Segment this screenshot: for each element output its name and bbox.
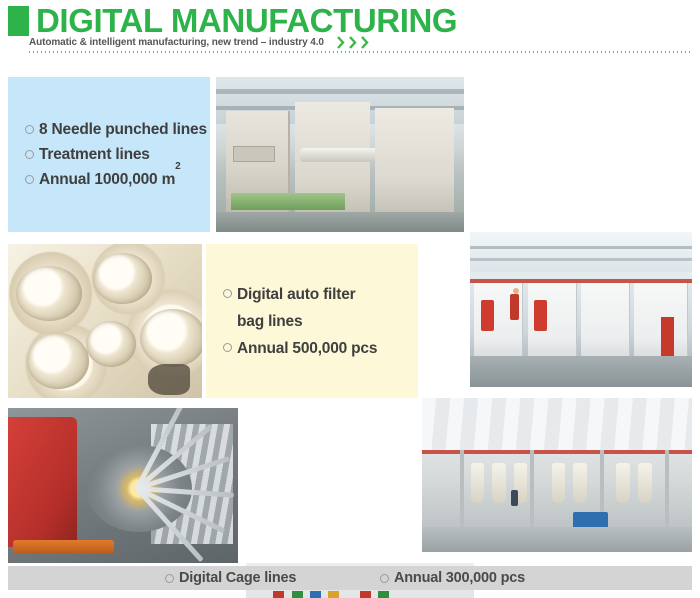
list-item: Treatment lines	[25, 142, 210, 167]
double-chevron-right-icon	[337, 36, 348, 49]
footer-item-label: Digital Cage lines	[179, 570, 296, 586]
content-row-3	[8, 408, 692, 563]
content-row-1: 8 Needle punched lines Treatment lines A…	[8, 77, 692, 232]
page-header: DIGITAL MANUFACTURING Automatic & intell…	[0, 0, 700, 58]
circle-bullet-icon	[25, 175, 34, 184]
list-item-label: 8 Needle punched lines	[39, 117, 207, 142]
double-chevron-right-icon	[361, 36, 372, 49]
list-item-label: Annual 500,000 pcs	[237, 335, 377, 362]
yellow-panel-list: Digital auto filter bag lines Annual 500…	[206, 281, 418, 362]
circle-bullet-icon	[25, 125, 34, 134]
chevron-group	[337, 36, 372, 49]
circle-bullet-icon	[165, 574, 174, 583]
footer-item: Digital Cage lines	[165, 570, 296, 586]
footer-bar: Digital Cage lines Annual 300,000 pcs	[8, 566, 692, 590]
header-divider	[29, 51, 691, 53]
list-item-label: bag lines	[237, 308, 302, 335]
poster-page: DIGITAL MANUFACTURING Automatic & intell…	[0, 0, 700, 598]
footer-item-label: Annual 300,000 pcs	[394, 570, 525, 586]
blue-info-panel: 8 Needle punched lines Treatment lines A…	[8, 77, 210, 232]
title-row: DIGITAL MANUFACTURING	[8, 4, 457, 37]
list-item: Digital auto filter	[223, 281, 418, 308]
circle-bullet-icon	[380, 574, 389, 583]
page-title: DIGITAL MANUFACTURING	[36, 4, 457, 37]
list-item-label: Annual 1000,000 m	[39, 167, 175, 192]
circle-bullet-icon	[223, 343, 232, 352]
list-item: 8 Needle punched lines	[25, 117, 210, 142]
double-chevron-right-icon	[349, 36, 360, 49]
footer-item: Annual 300,000 pcs	[380, 570, 525, 586]
content-row-2: Digital auto filter bag lines Annual 500…	[8, 244, 692, 398]
page-subtitle: Automatic & intelligent manufacturing, n…	[29, 37, 324, 48]
list-item: Annual 500,000 pcs	[223, 335, 418, 362]
subtitle-row: Automatic & intelligent manufacturing, n…	[29, 36, 372, 49]
list-item: bag lines	[223, 308, 418, 335]
blue-panel-list: 8 Needle punched lines Treatment lines A…	[8, 117, 210, 192]
list-item: Annual 1000,000 m2	[25, 167, 210, 192]
list-item-label: Digital auto filter	[237, 281, 355, 308]
circle-bullet-icon	[25, 150, 34, 159]
needle-punch-production-line-photo	[216, 77, 464, 232]
list-item-label: Treatment lines	[39, 142, 150, 167]
rotary-sewing-machine-photo	[8, 408, 238, 563]
filter-bag-rolls-closeup-photo	[8, 244, 202, 398]
circle-bullet-icon	[223, 289, 232, 298]
yellow-info-panel: Digital auto filter bag lines Annual 500…	[206, 244, 418, 398]
green-accent-block	[8, 6, 29, 36]
